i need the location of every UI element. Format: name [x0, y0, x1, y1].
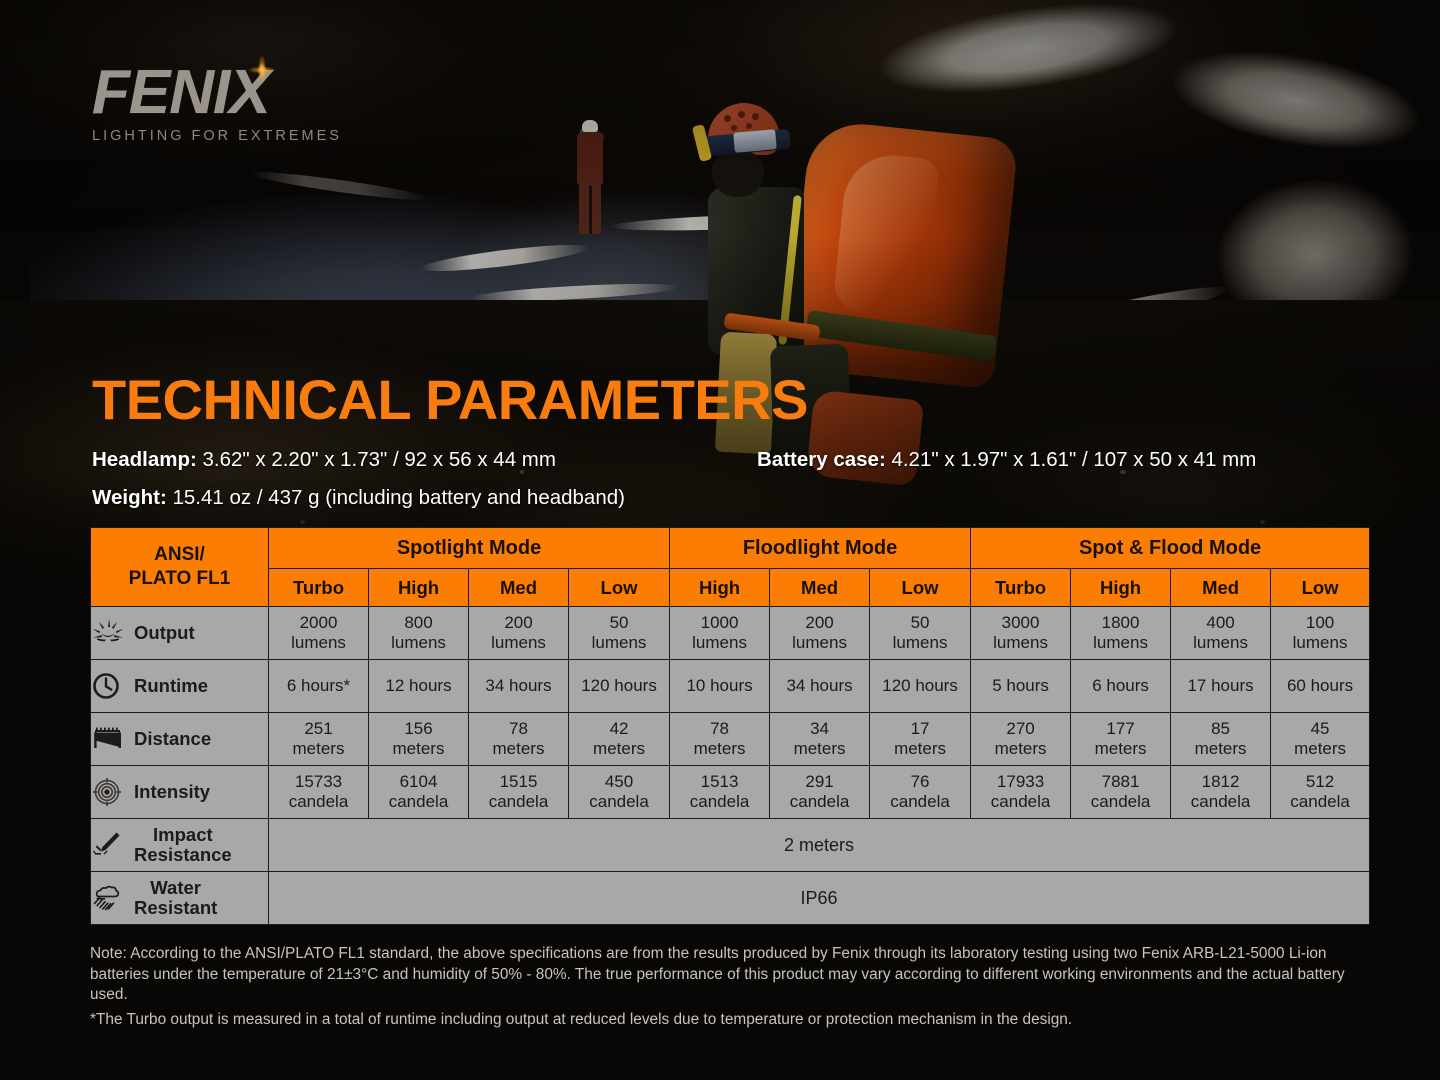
group-header-spotlight: Spotlight Mode	[269, 528, 670, 569]
spec-headlamp-label: Headlamp:	[92, 448, 197, 471]
mode-header-both-low: Low	[1271, 569, 1370, 607]
cell-value: 120 hours	[569, 676, 669, 696]
mode-header-spot-med: Med	[469, 569, 569, 607]
table-row-distance: Distance 251meters 156meters 78meters 42…	[91, 713, 1370, 766]
cell-value: 2000	[269, 613, 368, 633]
row-label-impact-resistance: ImpactResistance	[91, 819, 269, 872]
cell-value: 800	[369, 613, 468, 633]
cell-value: 17 hours	[1171, 676, 1270, 696]
mode-header-both-turbo: Turbo	[971, 569, 1071, 607]
cell-value: 6 hours*	[269, 676, 368, 696]
cell-runtime-spot-low: 120 hours	[569, 660, 670, 713]
cell-runtime-both-high: 6 hours	[1071, 660, 1171, 713]
technical-parameters-table: ANSI/ PLATO FL1 Spotlight Mode Floodligh…	[90, 527, 1370, 925]
cell-value: 15733	[269, 772, 368, 792]
target-intensity-icon	[91, 777, 125, 807]
cell-intensity-spot-high: 6104candela	[369, 766, 469, 819]
cell-unit: lumens	[1071, 633, 1170, 653]
cell-value: 291	[770, 772, 869, 792]
cell-distance-both-med: 85meters	[1171, 713, 1271, 766]
cell-value: 34 hours	[469, 676, 568, 696]
spec-headlamp-line: Headlamp: 3.62" x 2.20" x 1.73" / 92 x 5…	[92, 448, 556, 472]
beam-distance-icon	[91, 724, 125, 754]
cell-distance-flood-low: 17meters	[870, 713, 971, 766]
mode-header-flood-med: Med	[770, 569, 870, 607]
row-label-distance: Distance	[91, 713, 269, 766]
cell-runtime-flood-high: 10 hours	[670, 660, 770, 713]
clock-icon	[91, 671, 125, 701]
cell-intensity-spot-turbo: 15733candela	[269, 766, 369, 819]
cell-unit: candela	[670, 792, 769, 812]
cell-unit: meters	[870, 739, 970, 759]
cell-runtime-spot-turbo: 6 hours*	[269, 660, 369, 713]
cell-output-spot-turbo: 2000lumens	[269, 607, 369, 660]
cell-intensity-both-turbo: 17933candela	[971, 766, 1071, 819]
table-row-impact-resistance: ImpactResistance 2 meters	[91, 819, 1370, 872]
cell-value: 12 hours	[369, 676, 468, 696]
cell-value: 34	[770, 719, 869, 739]
fenix-star-icon	[242, 48, 282, 92]
cell-value: 7881	[1071, 772, 1170, 792]
mode-header-spot-high: High	[369, 569, 469, 607]
cell-unit: candela	[1071, 792, 1170, 812]
cell-unit: lumens	[770, 633, 869, 653]
cell-value: 50	[569, 613, 669, 633]
cell-intensity-flood-high: 1513candela	[670, 766, 770, 819]
cell-unit: lumens	[1271, 633, 1369, 653]
cell-value: 3000	[971, 613, 1070, 633]
cell-distance-spot-low: 42meters	[569, 713, 670, 766]
ansi-line-1: ANSI/	[91, 543, 268, 567]
cell-unit: meters	[469, 739, 568, 759]
footnote-block: Note: According to the ANSI/PLATO FL1 st…	[90, 944, 1375, 1030]
row-label-runtime: Runtime	[91, 660, 269, 713]
cell-output-spot-high: 800lumens	[369, 607, 469, 660]
cell-value: 78	[469, 719, 568, 739]
cell-unit: candela	[770, 792, 869, 812]
cell-value: 156	[369, 719, 468, 739]
cell-intensity-both-low: 512candela	[1271, 766, 1370, 819]
mode-header-flood-low: Low	[870, 569, 971, 607]
mode-header-both-high: High	[1071, 569, 1171, 607]
cell-unit: lumens	[569, 633, 669, 653]
cell-distance-spot-high: 156meters	[369, 713, 469, 766]
cell-intensity-spot-low: 450candela	[569, 766, 670, 819]
cell-distance-flood-high: 78meters	[670, 713, 770, 766]
cell-value: 100	[1271, 613, 1369, 633]
cell-intensity-flood-med: 291candela	[770, 766, 870, 819]
impact-label-line-2: Resistance	[134, 844, 232, 865]
cell-unit: lumens	[1171, 633, 1270, 653]
cell-value: 270	[971, 719, 1070, 739]
cell-value: 120 hours	[870, 676, 970, 696]
spec-headlamp-value: 3.62" x 2.20" x 1.73" / 92 x 56 x 44 mm	[197, 448, 556, 471]
cell-value: 200	[469, 613, 568, 633]
impact-label-line-1: Impact	[153, 824, 213, 845]
cell-value: 1513	[670, 772, 769, 792]
water-label-line-2: Resistant	[134, 897, 217, 918]
cell-unit: meters	[569, 739, 669, 759]
cell-value: 6 hours	[1071, 676, 1170, 696]
ansi-line-2: PLATO FL1	[91, 567, 268, 591]
cell-value: 1812	[1171, 772, 1270, 792]
mode-header-both-med: Med	[1171, 569, 1271, 607]
cell-output-both-med: 400lumens	[1171, 607, 1271, 660]
cell-runtime-flood-med: 34 hours	[770, 660, 870, 713]
cell-output-flood-high: 1000lumens	[670, 607, 770, 660]
table-row-water-resistant: WaterResistant IP66	[91, 872, 1370, 925]
ansi-plato-corner-cell: ANSI/ PLATO FL1	[91, 528, 269, 607]
cell-unit: candela	[369, 792, 468, 812]
rain-cloud-icon	[91, 883, 125, 913]
spec-battery-line: Battery case: 4.21" x 1.97" x 1.61" / 10…	[757, 448, 1256, 472]
cell-runtime-flood-low: 120 hours	[870, 660, 971, 713]
cell-output-flood-low: 50lumens	[870, 607, 971, 660]
cell-value: 76	[870, 772, 970, 792]
row-label-output: Output	[91, 607, 269, 660]
cell-value: 17	[870, 719, 970, 739]
cell-distance-both-low: 45meters	[1271, 713, 1370, 766]
cell-intensity-both-med: 1812candela	[1171, 766, 1271, 819]
cell-unit: candela	[1271, 792, 1369, 812]
cell-unit: candela	[870, 792, 970, 812]
cell-unit: meters	[369, 739, 468, 759]
cell-unit: candela	[1171, 792, 1270, 812]
cell-output-spot-med: 200lumens	[469, 607, 569, 660]
impact-arrow-icon	[91, 830, 125, 860]
water-label-line-1: Water	[150, 877, 201, 898]
cell-distance-spot-med: 78meters	[469, 713, 569, 766]
cell-unit: meters	[1071, 739, 1170, 759]
row-label-text: Output	[134, 623, 195, 643]
cell-value: 42	[569, 719, 669, 739]
cell-unit: lumens	[269, 633, 368, 653]
cell-value: 60 hours	[1271, 676, 1369, 696]
table-body: Output 2000lumens 800lumens 200lumens 50…	[91, 607, 1370, 925]
cell-distance-spot-turbo: 251meters	[269, 713, 369, 766]
table-mode-header-row: Turbo High Med Low High Med Low Turbo Hi…	[91, 569, 1370, 607]
sunburst-icon	[91, 618, 125, 648]
cell-value: 512	[1271, 772, 1369, 792]
cell-unit: meters	[1171, 739, 1270, 759]
mode-header-flood-high: High	[670, 569, 770, 607]
cell-value: 200	[770, 613, 869, 633]
cell-output-both-turbo: 3000lumens	[971, 607, 1071, 660]
cell-unit: lumens	[670, 633, 769, 653]
spec-weight-line: Weight: 15.41 oz / 437 g (including batt…	[92, 486, 625, 510]
page-title: TECHNICAL PARAMETERS	[92, 370, 808, 430]
cell-value: 1515	[469, 772, 568, 792]
cell-value: 45	[1271, 719, 1369, 739]
cell-unit: lumens	[870, 633, 970, 653]
cell-value: 6104	[369, 772, 468, 792]
cell-unit: lumens	[971, 633, 1070, 653]
cell-unit: candela	[269, 792, 368, 812]
cell-value: 85	[1171, 719, 1270, 739]
cell-output-flood-med: 200lumens	[770, 607, 870, 660]
table-row-intensity: Intensity 15733candela 6104candela 1515c…	[91, 766, 1370, 819]
cell-runtime-both-low: 60 hours	[1271, 660, 1370, 713]
cell-distance-both-high: 177meters	[1071, 713, 1171, 766]
footnote-paragraph-2: *The Turbo output is measured in a total…	[90, 1010, 1375, 1031]
cell-intensity-spot-med: 1515candela	[469, 766, 569, 819]
table-header: ANSI/ PLATO FL1 Spotlight Mode Floodligh…	[91, 528, 1370, 607]
cell-value: 10 hours	[670, 676, 769, 696]
cell-unit: meters	[670, 739, 769, 759]
cell-runtime-spot-med: 34 hours	[469, 660, 569, 713]
cell-output-both-high: 1800lumens	[1071, 607, 1171, 660]
cell-value: 1800	[1071, 613, 1170, 633]
spec-weight-value: 15.41 oz / 437 g (including battery and …	[167, 486, 625, 509]
cell-water-resistant-value: IP66	[269, 872, 1370, 925]
cell-unit: lumens	[469, 633, 568, 653]
fenix-tagline: LIGHTING FOR EXTREMES	[92, 128, 412, 144]
cell-value: 177	[1071, 719, 1170, 739]
cell-unit: candela	[971, 792, 1070, 812]
spec-battery-label: Battery case:	[757, 448, 886, 471]
cell-runtime-both-turbo: 5 hours	[971, 660, 1071, 713]
row-label-text: WaterResistant	[134, 878, 217, 918]
cell-value: 400	[1171, 613, 1270, 633]
mode-header-spot-turbo: Turbo	[269, 569, 369, 607]
cell-unit: lumens	[369, 633, 468, 653]
cell-distance-flood-med: 34meters	[770, 713, 870, 766]
spec-battery-value: 4.21" x 1.97" x 1.61" / 107 x 50 x 41 mm	[886, 448, 1257, 471]
cell-value: 450	[569, 772, 669, 792]
table-group-header-row: ANSI/ PLATO FL1 Spotlight Mode Floodligh…	[91, 528, 1370, 569]
mode-header-spot-low: Low	[569, 569, 670, 607]
cell-value: 251	[269, 719, 368, 739]
cell-value: 17933	[971, 772, 1070, 792]
table-row-runtime: Runtime 6 hours* 12 hours 34 hours 120 h…	[91, 660, 1370, 713]
cell-runtime-spot-high: 12 hours	[369, 660, 469, 713]
spec-weight-label: Weight:	[92, 486, 167, 509]
cell-impact-resistance-value: 2 meters	[269, 819, 1370, 872]
cell-value: 5 hours	[971, 676, 1070, 696]
cell-distance-both-turbo: 270meters	[971, 713, 1071, 766]
cell-intensity-both-high: 7881candela	[1071, 766, 1171, 819]
row-label-intensity: Intensity	[91, 766, 269, 819]
cell-output-spot-low: 50lumens	[569, 607, 670, 660]
cell-unit: candela	[569, 792, 669, 812]
cell-unit: candela	[469, 792, 568, 812]
cell-value: 34 hours	[770, 676, 869, 696]
row-label-text: Intensity	[134, 782, 210, 802]
row-label-text: Distance	[134, 729, 211, 749]
cell-runtime-both-med: 17 hours	[1171, 660, 1271, 713]
fenix-logo: FENIX LIGHTING FOR EXTREMES	[92, 62, 412, 152]
row-label-text: ImpactResistance	[134, 825, 232, 865]
cell-unit: meters	[269, 739, 368, 759]
cell-unit: meters	[770, 739, 869, 759]
cell-value: 50	[870, 613, 970, 633]
cell-unit: meters	[971, 739, 1070, 759]
cell-output-both-low: 100lumens	[1271, 607, 1370, 660]
group-header-spot-and-flood: Spot & Flood Mode	[971, 528, 1370, 569]
footnote-paragraph-1: Note: According to the ANSI/PLATO FL1 st…	[90, 944, 1375, 1006]
row-label-water-resistant: WaterResistant	[91, 872, 269, 925]
group-header-floodlight: Floodlight Mode	[670, 528, 971, 569]
cell-value: 1000	[670, 613, 769, 633]
table-row-output: Output 2000lumens 800lumens 200lumens 50…	[91, 607, 1370, 660]
cell-intensity-flood-low: 76candela	[870, 766, 971, 819]
cell-value: 78	[670, 719, 769, 739]
row-label-text: Runtime	[134, 676, 208, 696]
cell-unit: meters	[1271, 739, 1369, 759]
